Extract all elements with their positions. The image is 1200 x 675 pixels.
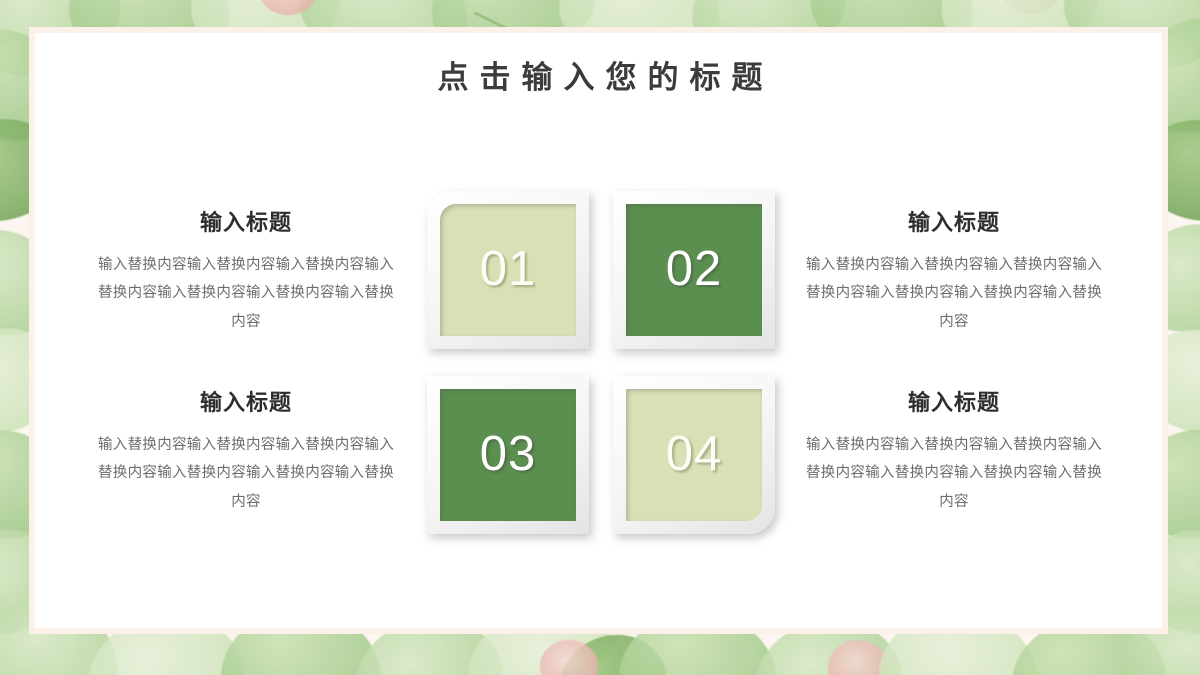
block-heading: 输入标题 — [96, 385, 396, 417]
numbered-tile-grid: 01 02 03 04 — [427, 191, 775, 534]
flower-decoration — [1000, 0, 1062, 14]
tile-04-face: 04 — [626, 389, 762, 521]
tile-03[interactable]: 03 — [427, 376, 589, 534]
tile-number: 01 — [478, 245, 538, 295]
flower-decoration — [540, 640, 598, 675]
tile-01[interactable]: 01 — [427, 191, 589, 349]
tile-04[interactable]: 04 — [613, 376, 775, 534]
content-block-top-right: 输入标题 输入替换内容输入替换内容输入替换内容输入替换内容输入替换内容输入替换内… — [804, 205, 1104, 336]
page-title: 点击输入您的标题 — [0, 52, 1200, 97]
block-body: 输入替换内容输入替换内容输入替换内容输入替换内容输入替换内容输入替换内容输入替换… — [96, 251, 396, 336]
content-block-bottom-left: 输入标题 输入替换内容输入替换内容输入替换内容输入替换内容输入替换内容输入替换内… — [96, 385, 396, 516]
block-body: 输入替换内容输入替换内容输入替换内容输入替换内容输入替换内容输入替换内容输入替换… — [804, 251, 1104, 336]
block-heading: 输入标题 — [96, 205, 396, 237]
flower-decoration — [828, 640, 888, 675]
leaf-decoration — [545, 621, 677, 675]
flower-decoration — [258, 0, 318, 15]
tile-number: 03 — [478, 430, 538, 480]
content-block-bottom-right: 输入标题 输入替换内容输入替换内容输入替换内容输入替换内容输入替换内容输入替换内… — [804, 385, 1104, 516]
tile-02-face: 02 — [626, 204, 762, 336]
block-body: 输入替换内容输入替换内容输入替换内容输入替换内容输入替换内容输入替换内容输入替换… — [96, 431, 396, 516]
tile-number: 04 — [664, 430, 724, 480]
block-heading: 输入标题 — [804, 385, 1104, 417]
content-block-top-left: 输入标题 输入替换内容输入替换内容输入替换内容输入替换内容输入替换内容输入替换内… — [96, 205, 396, 336]
tile-03-face: 03 — [440, 389, 576, 521]
block-body: 输入替换内容输入替换内容输入替换内容输入替换内容输入替换内容输入替换内容输入替换… — [804, 431, 1104, 516]
tile-02[interactable]: 02 — [613, 191, 775, 349]
tile-01-face: 01 — [440, 204, 576, 336]
tile-number: 02 — [664, 245, 724, 295]
block-heading: 输入标题 — [804, 205, 1104, 237]
slide: 点击输入您的标题 输入标题 输入替换内容输入替换内容输入替换内容输入替换内容输入… — [0, 0, 1200, 675]
